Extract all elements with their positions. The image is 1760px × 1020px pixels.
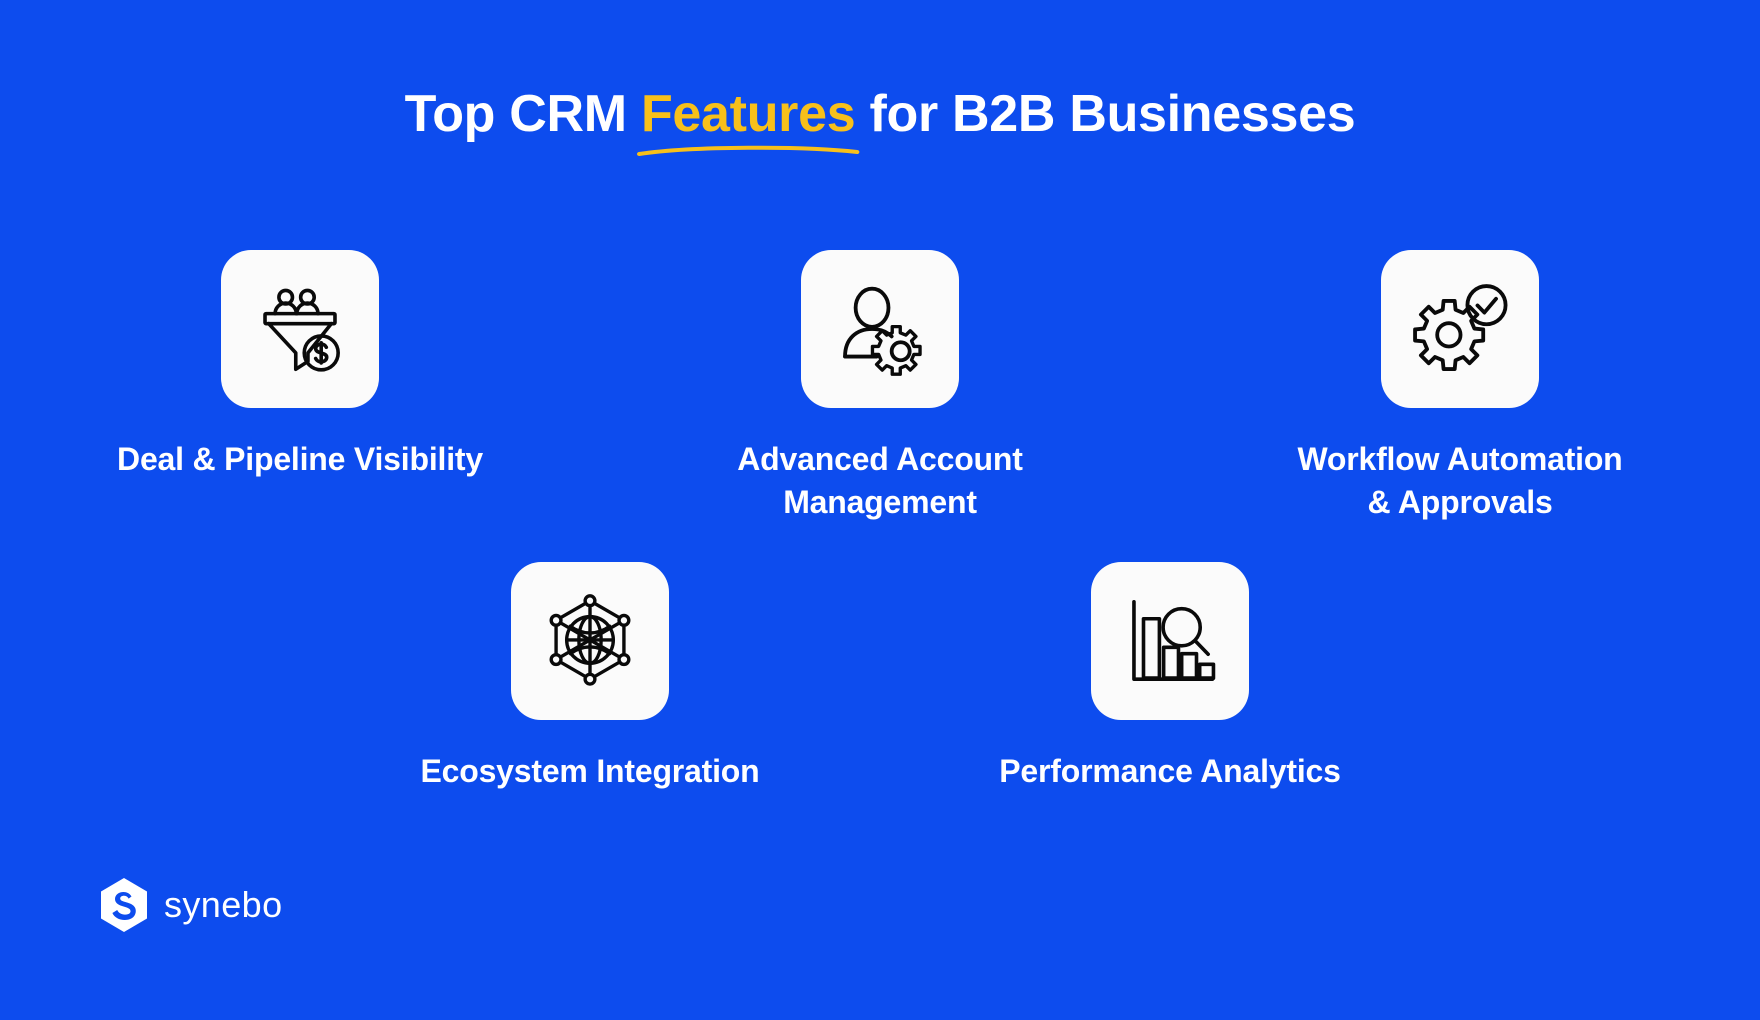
feature-label-line-1: Ecosystem Integration: [420, 753, 759, 789]
page-title: Top CRM Features for B2B Businesses: [0, 86, 1760, 143]
feature-label-line-1: Workflow Automation: [1297, 441, 1622, 477]
feature-label-performance-analytics: Performance Analytics: [999, 750, 1340, 793]
feature-label-line-1: Deal & Pipeline Visibility: [117, 441, 483, 477]
sales-funnel-dollar-icon: [247, 276, 353, 382]
feature-label-workflow-automation-approvals: Workflow Automation & Approvals: [1297, 438, 1622, 524]
synebo-hexagon-s-icon: [100, 878, 148, 932]
feature-ecosystem-integration[interactable]: Ecosystem Integration: [390, 562, 790, 793]
feature-deal-pipeline-visibility[interactable]: Deal & Pipeline Visibility: [100, 250, 500, 481]
feature-label-ecosystem-integration: Ecosystem Integration: [420, 750, 759, 793]
title-block: Top CRM Features for B2B Businesses: [0, 86, 1760, 143]
globe-network-icon: [537, 588, 643, 694]
synebo-wordmark: synebo: [164, 887, 283, 923]
icon-card-advanced-account-management: [801, 250, 959, 408]
page-title-accent: Features: [641, 86, 855, 143]
feature-label-line-2: Management: [783, 484, 977, 520]
features-row-1: Deal & Pipeline Visibility: [0, 250, 1760, 524]
feature-workflow-automation-approvals[interactable]: Workflow Automation & Approvals: [1260, 250, 1660, 524]
bar-chart-magnifier-icon: [1117, 588, 1223, 694]
icon-card-ecosystem-integration: [511, 562, 669, 720]
feature-label-line-1: Advanced Account: [737, 441, 1022, 477]
title-underline-icon: [637, 143, 859, 157]
feature-label-line-1: Performance Analytics: [999, 753, 1340, 789]
page-title-before: Top CRM: [405, 85, 641, 143]
feature-advanced-account-management[interactable]: Advanced Account Management: [680, 250, 1080, 524]
feature-label-deal-pipeline-visibility: Deal & Pipeline Visibility: [117, 438, 483, 481]
feature-performance-analytics[interactable]: Performance Analytics: [970, 562, 1370, 793]
infographic-slide: Top CRM Features for B2B Businesses: [0, 0, 1760, 1020]
feature-label-advanced-account-management: Advanced Account Management: [737, 438, 1022, 524]
gear-check-icon: [1407, 276, 1513, 382]
synebo-logo[interactable]: synebo: [100, 878, 283, 932]
features-row-2: Ecosystem Integration: [0, 562, 1760, 793]
icon-card-workflow-automation-approvals: [1381, 250, 1539, 408]
icon-card-performance-analytics: [1091, 562, 1249, 720]
page-title-accent-text: Features: [641, 85, 855, 143]
page-title-after: for B2B Businesses: [855, 85, 1355, 143]
feature-label-line-2: & Approvals: [1367, 484, 1552, 520]
icon-card-deal-pipeline-visibility: [221, 250, 379, 408]
features-grid: Deal & Pipeline Visibility: [0, 250, 1760, 793]
user-gear-icon: [827, 276, 933, 382]
